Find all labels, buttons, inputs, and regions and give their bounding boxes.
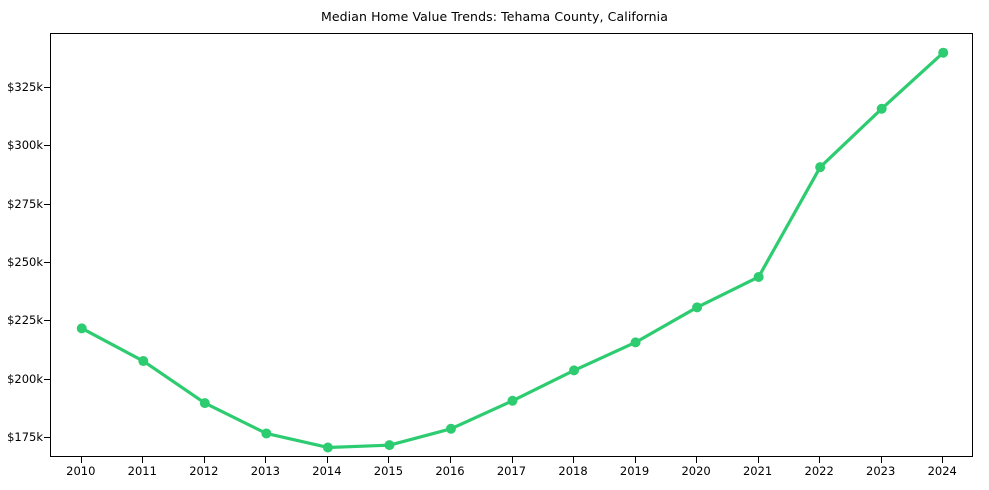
x-axis-tick-mark [942,457,943,463]
plot-area [50,33,973,457]
x-axis-tick-label: 2023 [866,464,895,478]
x-axis-tick-mark [512,457,513,463]
x-axis-tick-mark [204,457,205,463]
chart-title: Median Home Value Trends: Tehama County,… [0,9,989,24]
y-axis-tick-mark [44,262,50,263]
x-axis-tick-label: 2017 [497,464,526,478]
line-chart-svg [51,34,974,458]
x-axis-tick-mark [327,457,328,463]
data-point-markers [77,48,948,453]
x-axis-tick-mark [573,457,574,463]
data-point-marker [569,365,579,375]
x-axis-tick-label: 2022 [805,464,834,478]
data-point-marker [261,428,271,438]
data-point-marker [77,323,87,333]
x-axis-tick-mark [265,457,266,463]
y-axis-tick-mark [44,379,50,380]
y-axis-tick-mark [44,87,50,88]
y-axis-tick-label: $275k [7,197,43,211]
data-point-marker [692,302,702,312]
y-axis-tick-label: $225k [7,313,43,327]
data-point-marker [815,162,825,172]
data-point-marker [877,104,887,114]
data-point-marker [384,440,394,450]
data-point-marker [200,398,210,408]
x-axis-tick-mark [819,457,820,463]
y-axis-tick-mark [44,145,50,146]
x-axis-tick-label: 2024 [928,464,957,478]
y-axis-tick-label: $250k [7,255,43,269]
data-point-marker [138,356,148,366]
data-point-marker [446,424,456,434]
x-axis-tick-label: 2021 [743,464,772,478]
x-axis-tick-mark [881,457,882,463]
x-axis-tick-label: 2018 [558,464,587,478]
y-axis-tick-mark [44,437,50,438]
y-axis-tick-label: $325k [7,80,43,94]
data-point-marker [508,396,518,406]
x-axis-tick-label: 2015 [374,464,403,478]
x-axis-tick-label: 2014 [312,464,341,478]
x-axis-tick-label: 2011 [128,464,157,478]
x-axis-tick-mark [450,457,451,463]
x-axis-tick-label: 2019 [620,464,649,478]
x-axis-tick-mark [142,457,143,463]
x-axis-tick-mark [635,457,636,463]
x-axis-tick-mark [81,457,82,463]
data-line-median-home-value [82,53,943,448]
x-axis-tick-mark [696,457,697,463]
data-point-marker [754,272,764,282]
x-axis-tick-label: 2016 [435,464,464,478]
x-axis-tick-label: 2012 [189,464,218,478]
data-point-marker [631,337,641,347]
y-axis-tick-label: $200k [7,372,43,386]
x-axis-tick-label: 2020 [681,464,710,478]
x-axis-tick-label: 2013 [251,464,280,478]
y-axis-tick-label: $175k [7,430,43,444]
y-axis-tick-label: $300k [7,138,43,152]
chart-figure: Median Home Value Trends: Tehama County,… [0,0,989,490]
x-axis-tick-mark [388,457,389,463]
x-axis-tick-mark [758,457,759,463]
data-point-marker [323,442,333,452]
y-axis-tick-labels: $175k$200k$225k$250k$275k$300k$325k [0,0,43,490]
y-axis-tick-mark [44,204,50,205]
data-point-marker [938,48,948,58]
x-axis-tick-label: 2010 [66,464,95,478]
y-axis-tick-mark [44,320,50,321]
